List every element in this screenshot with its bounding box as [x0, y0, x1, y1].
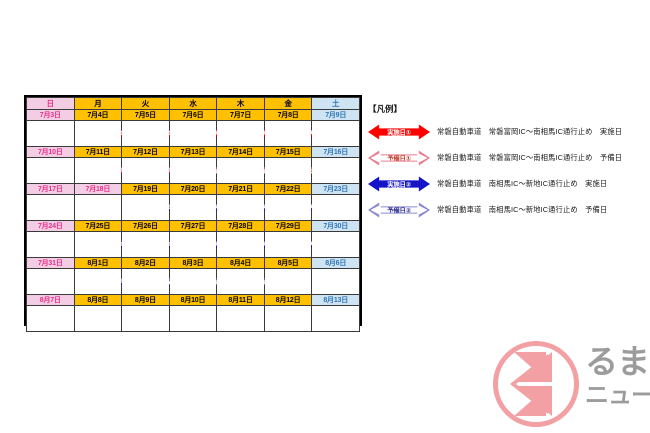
arrow-band-cell: [122, 306, 170, 332]
date-cell[interactable]: 7月27日: [169, 221, 217, 232]
date-cell[interactable]: 8月5日: [264, 258, 312, 269]
calendar-table: 日月火水木金土7月3日7月4日7月5日7月6日7月7日7月8日7月9日実施日①実…: [26, 97, 360, 332]
date-cell[interactable]: 7月26日: [122, 221, 170, 232]
logo-k-glyph-icon: [502, 350, 570, 418]
arrow-band-cell: [122, 195, 170, 221]
date-cell[interactable]: 7月11日: [74, 147, 122, 158]
date-cell[interactable]: 7月12日: [122, 147, 170, 158]
date-cell[interactable]: 7月7日: [217, 110, 265, 121]
date-cell[interactable]: 7月6日: [169, 110, 217, 121]
date-cell[interactable]: 7月8日: [264, 110, 312, 121]
calendar-arrow-row: 実施日①実施日①予備日①予備日①予備日①: [27, 158, 360, 184]
date-cell[interactable]: 7月25日: [74, 221, 122, 232]
weekday-header-0: 日: [27, 98, 75, 110]
date-cell[interactable]: 7月23日: [312, 184, 360, 195]
date-cell[interactable]: 8月9日: [122, 295, 170, 306]
arrow-band-cell: [169, 306, 217, 332]
date-cell[interactable]: 8月7日: [27, 295, 75, 306]
schedule-calendar: 日月火水木金土7月3日7月4日7月5日7月6日7月7日7月8日7月9日実施日①実…: [24, 95, 362, 326]
arrow-band-cell: [264, 269, 312, 295]
logo-circle-icon: [493, 341, 579, 427]
arrow-band-cell: [169, 195, 217, 221]
arrow-band-cell: [264, 232, 312, 258]
date-cell[interactable]: 8月10日: [169, 295, 217, 306]
arrow-band-cell: [264, 195, 312, 221]
arrow-band-cell: [217, 269, 265, 295]
calendar-header-row: 日月火水木金土: [27, 98, 360, 110]
arrow-band-cell: [312, 121, 360, 147]
legend-row: 実施日①常磐自動車道 常磐富岡IC～南相馬IC通行止め 実施日: [368, 124, 643, 140]
weekday-header-2: 火: [122, 98, 170, 110]
weekday-header-5: 金: [264, 98, 312, 110]
arrow-band-cell: [312, 232, 360, 258]
date-cell[interactable]: 7月30日: [312, 221, 360, 232]
arrow-band-cell: 実施日①実施日①予備日①予備日①予備日①: [27, 158, 75, 184]
date-cell[interactable]: 7月16日: [312, 147, 360, 158]
arrow-band-cell: [169, 121, 217, 147]
date-cell[interactable]: 7月19日: [122, 184, 170, 195]
weekday-header-1: 月: [74, 98, 122, 110]
arrow-band-cell: [217, 195, 265, 221]
date-cell[interactable]: 7月5日: [122, 110, 170, 121]
calendar-date-row: 7月24日7月25日7月26日7月27日7月28日7月29日7月30日: [27, 221, 360, 232]
date-cell[interactable]: 7月31日: [27, 258, 75, 269]
arrow-band-cell: [27, 306, 75, 332]
closure-arrow-blue: 実施日②: [368, 177, 430, 192]
weekday-header-4: 木: [217, 98, 265, 110]
reserve-arrow-label: 予備日②: [371, 205, 428, 216]
arrow-band-cell: [312, 158, 360, 184]
date-cell[interactable]: 8月6日: [312, 258, 360, 269]
date-cell[interactable]: 8月2日: [122, 258, 170, 269]
calendar-date-row: 7月31日8月1日8月2日8月3日8月4日8月5日8月6日: [27, 258, 360, 269]
arrow-band-cell: [74, 195, 122, 221]
logo-wordmark: るまの ニュース: [585, 345, 650, 429]
logo-line-2: ニュース: [585, 384, 650, 408]
date-cell[interactable]: 7月29日: [264, 221, 312, 232]
logo-line-1: るまの: [585, 345, 650, 378]
calendar-date-row: 8月7日8月8日8月9日8月10日8月11日8月12日8月13日: [27, 295, 360, 306]
arrow-band-cell: [217, 121, 265, 147]
reserve-arrow-blue: 予備日②: [368, 203, 430, 218]
legend-description: 常磐自動車道 南相馬IC～新地IC通行止め 実施日: [437, 179, 607, 189]
arrow-band-cell: [74, 121, 122, 147]
date-cell[interactable]: 7月17日: [27, 184, 75, 195]
arrow-band-cell: [122, 121, 170, 147]
arrow-band-cell: 実施日②実施日②実施日②実施日②: [27, 195, 75, 221]
calendar-arrow-row: 実施日②実施日②実施日②実施日②実施日②: [27, 232, 360, 258]
date-cell[interactable]: 7月20日: [169, 184, 217, 195]
arrow-band-cell: [217, 232, 265, 258]
arrow-band-cell: [122, 158, 170, 184]
legend-row: 実施日②常磐自動車道 南相馬IC～新地IC通行止め 実施日: [368, 176, 643, 192]
weekday-header-6: 土: [312, 98, 360, 110]
arrow-band-cell: 実施日②予備日②予備日②予備日②: [27, 269, 75, 295]
arrow-band-cell: [312, 306, 360, 332]
date-cell[interactable]: 7月4日: [74, 110, 122, 121]
arrow-band-cell: [74, 158, 122, 184]
date-cell[interactable]: 8月12日: [264, 295, 312, 306]
date-cell[interactable]: 7月28日: [217, 221, 265, 232]
arrow-band-cell: [264, 121, 312, 147]
arrow-band-cell: [264, 306, 312, 332]
calendar-arrow-row: [27, 306, 360, 332]
date-cell[interactable]: 7月14日: [217, 147, 265, 158]
calendar-date-row: 7月3日7月4日7月5日7月6日7月7日7月8日7月9日: [27, 110, 360, 121]
legend-description: 常磐自動車道 常磐富岡IC～南相馬IC通行止め 予備日: [437, 153, 622, 163]
reserve-arrow-label: 予備日①: [371, 153, 428, 164]
arrow-band-cell: 実施日①実施日①実施日①実施日①実施日①: [27, 121, 75, 147]
closure-arrow-red: 実施日①: [368, 125, 430, 140]
calendar-date-row: 7月10日7月11日7月12日7月13日7月14日7月15日7月16日: [27, 147, 360, 158]
reserve-arrow-red: 予備日①: [368, 151, 430, 166]
arrow-band-cell: [312, 269, 360, 295]
arrow-band-cell: [122, 232, 170, 258]
arrow-band-cell: [74, 306, 122, 332]
arrow-band-cell: [74, 269, 122, 295]
date-cell[interactable]: 8月1日: [74, 258, 122, 269]
legend-row: 予備日②常磐自動車道 南相馬IC～新地IC通行止め 予備日: [368, 202, 643, 218]
arrow-band-cell: [217, 158, 265, 184]
arrow-band-cell: [264, 158, 312, 184]
arrow-band-cell: [169, 158, 217, 184]
legend-arrow-chip: 予備日②: [368, 203, 430, 218]
arrow-band-cell: [312, 195, 360, 221]
date-cell[interactable]: 7月3日: [27, 110, 75, 121]
legend-arrow-chip: 実施日②: [368, 177, 430, 192]
date-cell[interactable]: 7月15日: [264, 147, 312, 158]
arrow-band-cell: [217, 306, 265, 332]
date-cell[interactable]: 7月13日: [169, 147, 217, 158]
legend-arrow-chip: 予備日①: [368, 151, 430, 166]
legend-title: 【凡例】: [368, 103, 643, 115]
calendar-arrow-row: 実施日②実施日②実施日②実施日②: [27, 195, 360, 221]
calendar-arrow-row: 実施日①実施日①実施日①実施日①実施日①: [27, 121, 360, 147]
date-cell[interactable]: 8月13日: [312, 295, 360, 306]
date-cell[interactable]: 7月10日: [27, 147, 75, 158]
date-cell[interactable]: 8月11日: [217, 295, 265, 306]
date-cell[interactable]: 7月9日: [312, 110, 360, 121]
arrow-band-cell: 実施日②実施日②実施日②実施日②実施日②: [27, 232, 75, 258]
legend-arrow-chip: 実施日①: [368, 125, 430, 140]
date-cell[interactable]: 7月18日: [74, 184, 122, 195]
date-cell[interactable]: 8月3日: [169, 258, 217, 269]
legend-description: 常磐自動車道 南相馬IC～新地IC通行止め 予備日: [437, 205, 607, 215]
date-cell[interactable]: 7月24日: [27, 221, 75, 232]
date-cell[interactable]: 8月8日: [74, 295, 122, 306]
date-cell[interactable]: 7月21日: [217, 184, 265, 195]
date-cell[interactable]: 7月22日: [264, 184, 312, 195]
arrow-band-cell: [74, 232, 122, 258]
legend-description: 常磐自動車道 常磐富岡IC～南相馬IC通行止め 実施日: [437, 127, 622, 137]
date-cell[interactable]: 8月4日: [217, 258, 265, 269]
arrow-band-cell: [122, 269, 170, 295]
calendar-date-row: 7月17日7月18日7月19日7月20日7月21日7月22日7月23日: [27, 184, 360, 195]
weekday-header-3: 水: [169, 98, 217, 110]
legend-panel: 【凡例】 実施日①常磐自動車道 常磐富岡IC～南相馬IC通行止め 実施日予備日①…: [368, 103, 643, 228]
calendar-arrow-row: 実施日②予備日②予備日②予備日②: [27, 269, 360, 295]
arrow-band-cell: [169, 232, 217, 258]
kuruma-no-news-logo: るまの ニュース: [493, 339, 650, 433]
arrow-band-cell: [169, 269, 217, 295]
legend-row: 予備日①常磐自動車道 常磐富岡IC～南相馬IC通行止め 予備日: [368, 150, 643, 166]
